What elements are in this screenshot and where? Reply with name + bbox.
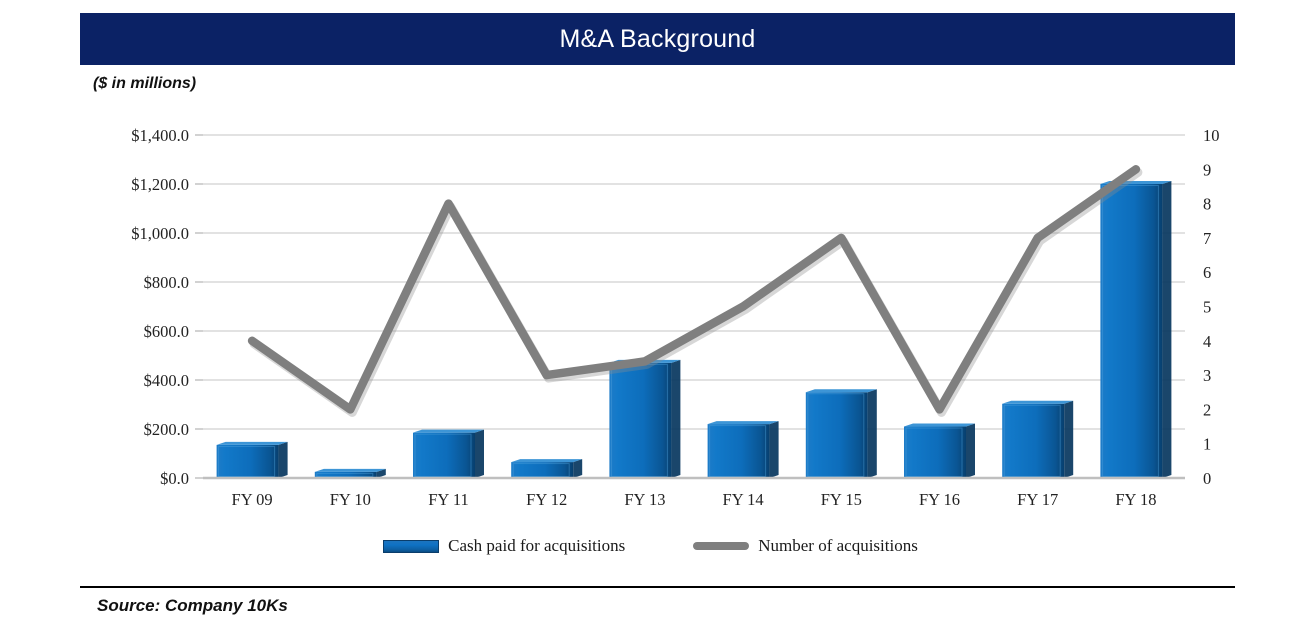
bar-body [315,472,377,478]
bar-highlight [219,446,275,476]
bar [1002,401,1073,478]
left-axis-tick: $800.0 [144,273,189,292]
line-shadow [254,172,1138,412]
left-axis-tick-labels: $0.0$200.0$400.0$600.0$800.0$1,000.0$1,2… [131,126,203,488]
bar-top-face [904,424,975,427]
bar [904,424,975,478]
bar-top-face [511,459,582,462]
page-title: M&A Background [560,25,756,54]
line-path [252,169,1136,409]
bar-highlight [906,428,962,476]
bar-highlight [317,473,373,476]
footer-divider [80,586,1235,588]
left-axis-tick: $400.0 [144,371,189,390]
right-axis-tick-labels: 012345678910 [1203,126,1220,488]
bar-highlight [513,464,569,477]
x-axis-tick: FY 13 [624,490,665,509]
bar-body [708,424,770,478]
right-axis-tick: 5 [1203,298,1211,317]
bar-body [806,392,868,478]
left-axis-tick: $200.0 [144,420,189,439]
right-axis-tick: 7 [1203,229,1211,248]
left-axis-tick: $600.0 [144,322,189,341]
bar-body [511,462,573,478]
bar-highlight [710,426,766,477]
bar-highlight [808,394,864,477]
bar [511,459,582,478]
x-axis-tick: FY 16 [919,490,960,509]
right-axis-tick: 6 [1203,263,1211,282]
legend-bar-swatch-icon [383,540,439,553]
bar-top-face [413,430,484,433]
bar-side-face [1064,401,1073,478]
bar [1100,181,1171,478]
bar-side-face [770,421,779,478]
title-banner: M&A Background [80,13,1235,65]
bar-side-face [573,459,582,478]
bar [708,421,779,478]
left-axis-tick: $1,400.0 [131,126,189,145]
bar-highlight [611,364,667,476]
bar-series [217,181,1172,478]
bar [413,430,484,478]
line-series [252,169,1138,412]
right-axis-tick: 8 [1203,195,1211,214]
x-axis-tick-labels: FY 09FY 10FY 11FY 12FY 13FY 14FY 15FY 16… [232,490,1157,509]
x-axis-tick: FY 17 [1017,490,1058,509]
bar [609,360,680,478]
bar [315,469,386,478]
right-axis-tick: 4 [1203,332,1211,351]
bar-side-face [475,430,484,478]
bar-highlight [1004,405,1060,476]
bar-side-face [671,360,680,478]
chart-gridlines [203,135,1185,478]
bar-top-face [609,360,680,363]
bar-body [1002,404,1064,478]
x-axis-tick: FY 09 [232,490,273,509]
bar-body [904,427,966,478]
right-axis-tick: 9 [1203,160,1211,179]
bar-top-face [1002,401,1073,404]
bar-body [217,445,279,478]
bar-body [413,433,475,478]
legend-item-line-label: Number of acquisitions [758,536,918,556]
bar-top-face [217,442,288,445]
x-axis-tick: FY 12 [526,490,567,509]
bar-highlight [1102,186,1158,477]
left-axis-tick: $1,000.0 [131,224,189,243]
left-axis-tick: $0.0 [160,469,189,488]
bar-side-face [1162,181,1171,478]
bar-top-face [806,389,877,392]
bar-side-face [868,389,877,478]
bar-side-face [279,442,288,478]
left-axis-tick: $1,200.0 [131,175,189,194]
x-axis-tick: FY 18 [1115,490,1156,509]
chart-legend: Cash paid for acquisitions Number of acq… [0,536,1301,556]
bar-highlight [415,434,471,476]
bar [217,442,288,478]
right-axis-tick: 3 [1203,366,1211,385]
source-note: Source: Company 10Ks [97,596,288,616]
bar-top-face [708,421,779,424]
legend-item-bar-label: Cash paid for acquisitions [448,536,625,556]
x-axis-tick: FY 11 [428,490,469,509]
bar-side-face [966,424,975,478]
x-axis-tick: FY 15 [821,490,862,509]
bar-top-face [315,469,386,472]
bar-side-face [377,469,386,478]
legend-line-swatch-icon [693,542,749,550]
right-axis-tick: 2 [1203,400,1211,419]
x-axis-tick: FY 14 [723,490,764,509]
bar-body [1100,184,1162,478]
units-note: ($ in millions) [93,75,196,93]
right-axis-tick: 1 [1203,435,1211,454]
bar [806,389,877,478]
bar-top-face [1100,181,1171,184]
legend-item-line[interactable]: Number of acquisitions [693,536,918,556]
x-axis-tick: FY 10 [330,490,371,509]
legend-item-bar[interactable]: Cash paid for acquisitions [383,536,625,556]
bar-body [609,363,671,478]
right-axis-tick: 0 [1203,469,1211,488]
right-axis-tick: 10 [1203,126,1220,145]
